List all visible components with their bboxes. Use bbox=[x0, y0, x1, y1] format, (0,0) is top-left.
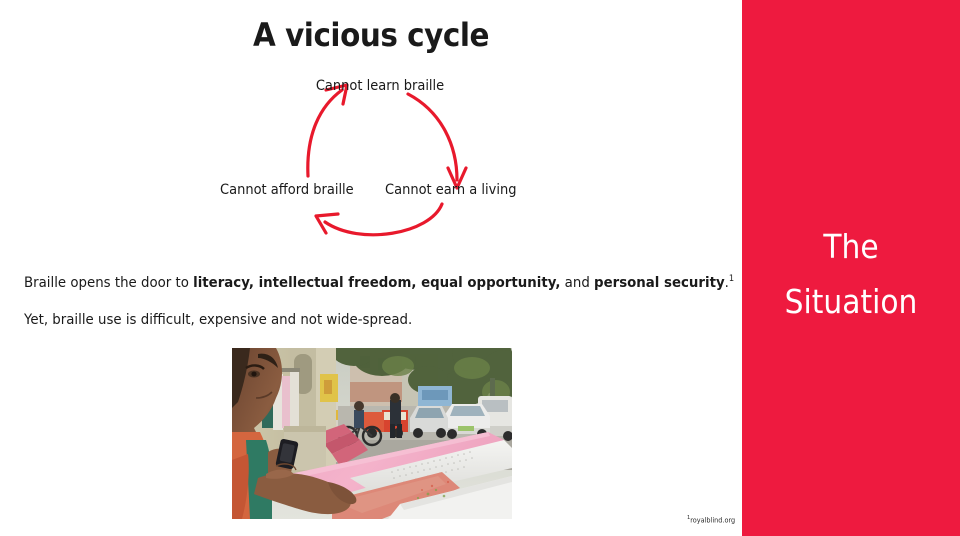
body-text-line-2: Yet, braille use is difficult, expensive… bbox=[24, 312, 412, 328]
page-title: A vicious cycle bbox=[30, 16, 713, 54]
slide-canvas: A vicious cycle Cannot learn braille Can… bbox=[0, 0, 960, 536]
footnote-source-text: royalblind.org bbox=[690, 516, 735, 524]
vicious-cycle-diagram: Cannot learn braille Cannot earn a livin… bbox=[180, 68, 580, 248]
body-text-bold-2: personal security bbox=[594, 275, 725, 291]
section-panel-line-2: Situation bbox=[753, 274, 949, 329]
section-panel: The Situation bbox=[742, 0, 960, 536]
footnote-marker: 1 bbox=[729, 274, 734, 284]
body-text-part-2: and bbox=[560, 275, 594, 291]
section-panel-title: The Situation bbox=[753, 219, 949, 329]
cycle-node-afford-braille: Cannot afford braille bbox=[220, 182, 354, 198]
cycle-node-earn-living: Cannot earn a living bbox=[385, 182, 516, 198]
cycle-node-learn-braille: Cannot learn braille bbox=[194, 78, 566, 94]
cycle-arrows-svg bbox=[180, 68, 580, 248]
braille-reading-photo bbox=[232, 348, 512, 519]
footnote-source: 1royalblind.org bbox=[687, 515, 735, 524]
body-text-bold-1: literacy, intellectual freedom, equal op… bbox=[193, 275, 560, 291]
arrow-learn-to-earn bbox=[408, 94, 466, 188]
body-text-part-1: Braille opens the door to bbox=[24, 275, 193, 291]
arrow-earn-to-afford bbox=[316, 204, 442, 235]
photo-illustration bbox=[232, 348, 512, 519]
arrow-afford-to-learn bbox=[308, 85, 347, 176]
body-text-line-1: Braille opens the door to literacy, inte… bbox=[24, 274, 734, 291]
section-panel-line-1: The bbox=[753, 219, 949, 274]
